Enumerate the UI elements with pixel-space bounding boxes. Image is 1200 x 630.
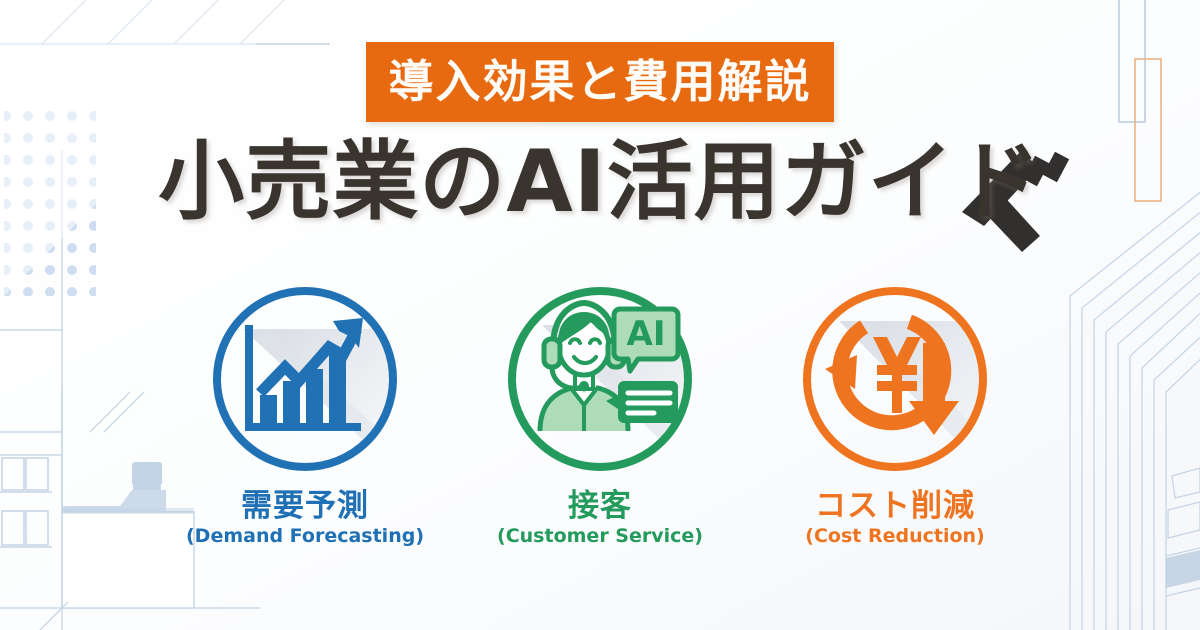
- feature-label-jp: コスト削減: [815, 491, 975, 522]
- feature-label-jp: 接客: [568, 491, 632, 522]
- title-container: 小売業のAI活用ガイド: [0, 136, 1200, 229]
- customer-service-icon-circle: AI: [502, 281, 698, 477]
- eyebrow-badge: 導入効果と費用解説: [366, 42, 833, 122]
- page-title: 小売業のAI活用ガイド: [158, 136, 1042, 229]
- feature-label-en: (Customer Service): [497, 527, 703, 546]
- feature-list: 需要予測 (Demand Forecasting): [0, 281, 1200, 546]
- feature-cost-reduction: コスト削減 (Cost Reduction): [795, 281, 995, 546]
- badge-container: 導入効果と費用解説: [0, 42, 1200, 122]
- cost-reduction-icon-circle: [797, 281, 993, 477]
- feature-customer-service: AI 接客 (Customer Service): [500, 281, 700, 546]
- ai-bubble-text: AI: [627, 314, 666, 354]
- feature-label-en: (Demand Forecasting): [186, 527, 424, 546]
- feature-label-en: (Cost Reduction): [805, 527, 984, 546]
- feature-label-jp: 需要予測: [241, 491, 369, 522]
- poster-root: 導入効果と費用解説 小売業のAI活用ガイド: [0, 0, 1200, 630]
- demand-forecasting-icon-circle: [207, 281, 403, 477]
- feature-demand-forecasting: 需要予測 (Demand Forecasting): [205, 281, 405, 546]
